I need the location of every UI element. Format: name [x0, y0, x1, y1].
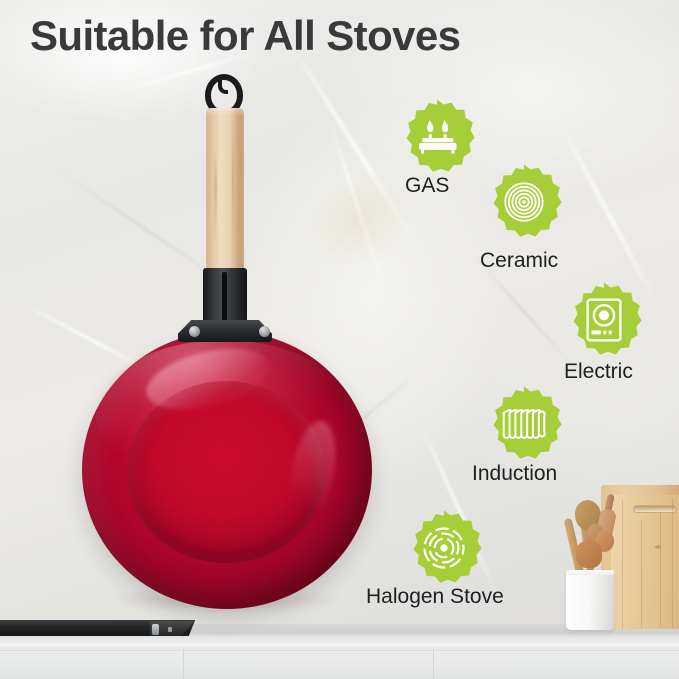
- stove-badge-gas[interactable]: [398, 98, 476, 176]
- stove-label-halogen: Halogen Stove: [366, 585, 504, 609]
- bracket-slot: [222, 272, 227, 324]
- stove-label-induction: Induction: [472, 462, 557, 486]
- bracket-rivet: [189, 326, 200, 337]
- stove-label-gas: GAS: [405, 174, 449, 198]
- badge-scallop-shape: [407, 100, 475, 172]
- stove-label-electric: Electric: [564, 360, 633, 384]
- stove-badge-halogen[interactable]: [405, 509, 483, 587]
- badge-scallop-shape: [414, 511, 482, 583]
- handle-wood-grain: [232, 130, 234, 240]
- infographic-canvas: Suitable for All Stoves GAS: [0, 0, 679, 679]
- stove-badge-induction[interactable]: [485, 385, 563, 463]
- page-title: Suitable for All Stoves: [30, 12, 460, 60]
- stove-badge-electric[interactable]: [565, 281, 643, 359]
- bracket-rivet: [259, 326, 270, 337]
- stove-badge-ceramic[interactable]: [485, 163, 563, 241]
- handle-wood-grain: [214, 150, 217, 240]
- stove-label-ceramic: Ceramic: [480, 249, 558, 273]
- wooden-handle: [206, 108, 244, 273]
- ceramic-center-dot: [522, 200, 525, 203]
